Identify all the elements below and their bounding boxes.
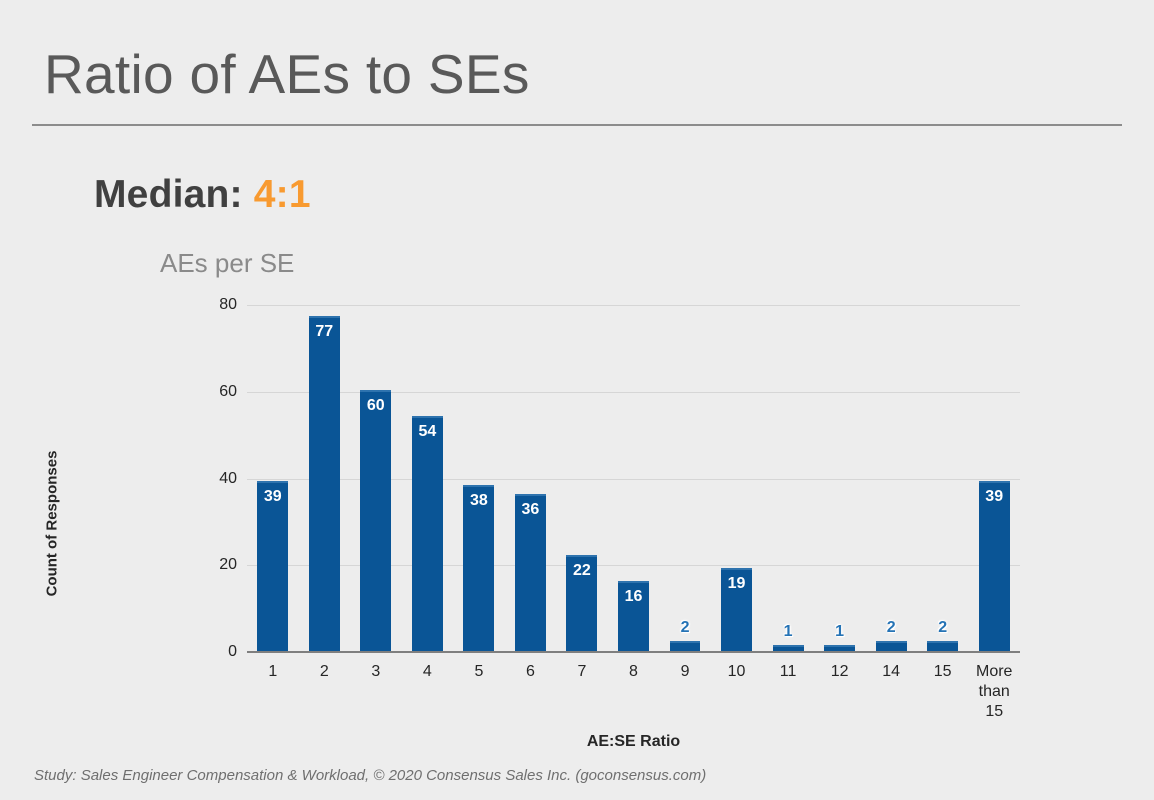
bar[interactable]: 54 xyxy=(412,416,443,652)
bar[interactable]: 39 xyxy=(257,481,288,652)
x-axis-tick-label: 11 xyxy=(762,662,814,682)
bar-group[interactable]: 168 xyxy=(608,305,660,652)
y-axis-title: Count of Responses xyxy=(44,414,61,634)
median-value: 4:1 xyxy=(254,173,311,216)
bar-value-label: 38 xyxy=(463,492,494,510)
x-axis-tick-label: 2 xyxy=(299,662,351,682)
bar-group[interactable]: 603 xyxy=(350,305,402,652)
bar-group[interactable]: 214 xyxy=(865,305,917,652)
x-axis-tick-label: 10 xyxy=(711,662,763,682)
bar[interactable]: 38 xyxy=(463,485,494,652)
bar-value-label: 1 xyxy=(762,623,814,641)
bar[interactable]: 36 xyxy=(515,494,546,652)
x-axis-tick-label: Morethan15 xyxy=(968,662,1020,722)
x-axis-tick-label: 1 xyxy=(247,662,299,682)
bar-value-label: 60 xyxy=(360,397,391,415)
bar-value-label: 39 xyxy=(257,488,288,506)
median-label: Median: xyxy=(94,173,254,216)
x-axis-tick-label: 12 xyxy=(814,662,866,682)
bar-value-label: 77 xyxy=(309,323,340,341)
y-axis-tick-label: 0 xyxy=(228,643,237,661)
chart-subtitle: AEs per SE xyxy=(160,248,294,279)
page-title: Ratio of AEs to SEs xyxy=(44,46,530,104)
footer-citation: Study: Sales Engineer Compensation & Wor… xyxy=(34,767,706,784)
bar-group[interactable]: 1910 xyxy=(711,305,763,652)
bar-value-label: 36 xyxy=(515,501,546,519)
bar-group[interactable]: 112 xyxy=(814,305,866,652)
bar[interactable]: 77 xyxy=(309,316,340,652)
title-divider xyxy=(32,124,1122,126)
y-axis-tick-label: 20 xyxy=(219,556,237,574)
bar[interactable]: 60 xyxy=(360,390,391,652)
x-axis-tick-label: 8 xyxy=(608,662,660,682)
bar-group[interactable]: 772 xyxy=(299,305,351,652)
bar[interactable]: 39 xyxy=(979,481,1010,652)
plot-area: 020406080 391772603544385366227168291910… xyxy=(247,305,1020,652)
median-callout: Median: 4:1 xyxy=(94,173,311,217)
bar-group[interactable]: 215 xyxy=(917,305,969,652)
bar[interactable]: 16 xyxy=(618,581,649,652)
bar-group[interactable]: 391 xyxy=(247,305,299,652)
bar-group[interactable]: 366 xyxy=(505,305,557,652)
bar-group[interactable]: 39Morethan15 xyxy=(968,305,1020,652)
x-axis-line xyxy=(247,651,1020,653)
bar-value-label: 39 xyxy=(979,488,1010,506)
x-axis-tick-label: 3 xyxy=(350,662,402,682)
bar[interactable]: 19 xyxy=(721,568,752,652)
bar-value-label: 19 xyxy=(721,575,752,593)
x-axis-tick-label: 6 xyxy=(505,662,557,682)
bar-value-label: 1 xyxy=(814,623,866,641)
y-axis-tick-label: 40 xyxy=(219,470,237,488)
bar-group[interactable]: 227 xyxy=(556,305,608,652)
bar-group[interactable]: 111 xyxy=(762,305,814,652)
x-axis-tick-label: 9 xyxy=(659,662,711,682)
y-axis-tick-label: 60 xyxy=(219,383,237,401)
bar-group[interactable]: 385 xyxy=(453,305,505,652)
x-axis-title: AE:SE Ratio xyxy=(247,733,1020,751)
x-axis-tick-label: 4 xyxy=(402,662,454,682)
bar-group[interactable]: 29 xyxy=(659,305,711,652)
bar[interactable]: 22 xyxy=(566,555,597,652)
x-axis-tick-label: 7 xyxy=(556,662,608,682)
x-axis-tick-label: 14 xyxy=(865,662,917,682)
bar-group[interactable]: 544 xyxy=(402,305,454,652)
y-axis-tick-label: 80 xyxy=(219,296,237,314)
x-axis-tick-label: 5 xyxy=(453,662,505,682)
bar-value-label: 2 xyxy=(659,619,711,637)
bar-value-label: 2 xyxy=(865,619,917,637)
bar-chart: Count of Responses 020406080 39177260354… xyxy=(0,290,1154,770)
bar-value-label: 54 xyxy=(412,423,443,441)
bar-value-label: 22 xyxy=(566,562,597,580)
bar-value-label: 16 xyxy=(618,588,649,606)
x-axis-tick-label: 15 xyxy=(917,662,969,682)
bar-value-label: 2 xyxy=(917,619,969,637)
